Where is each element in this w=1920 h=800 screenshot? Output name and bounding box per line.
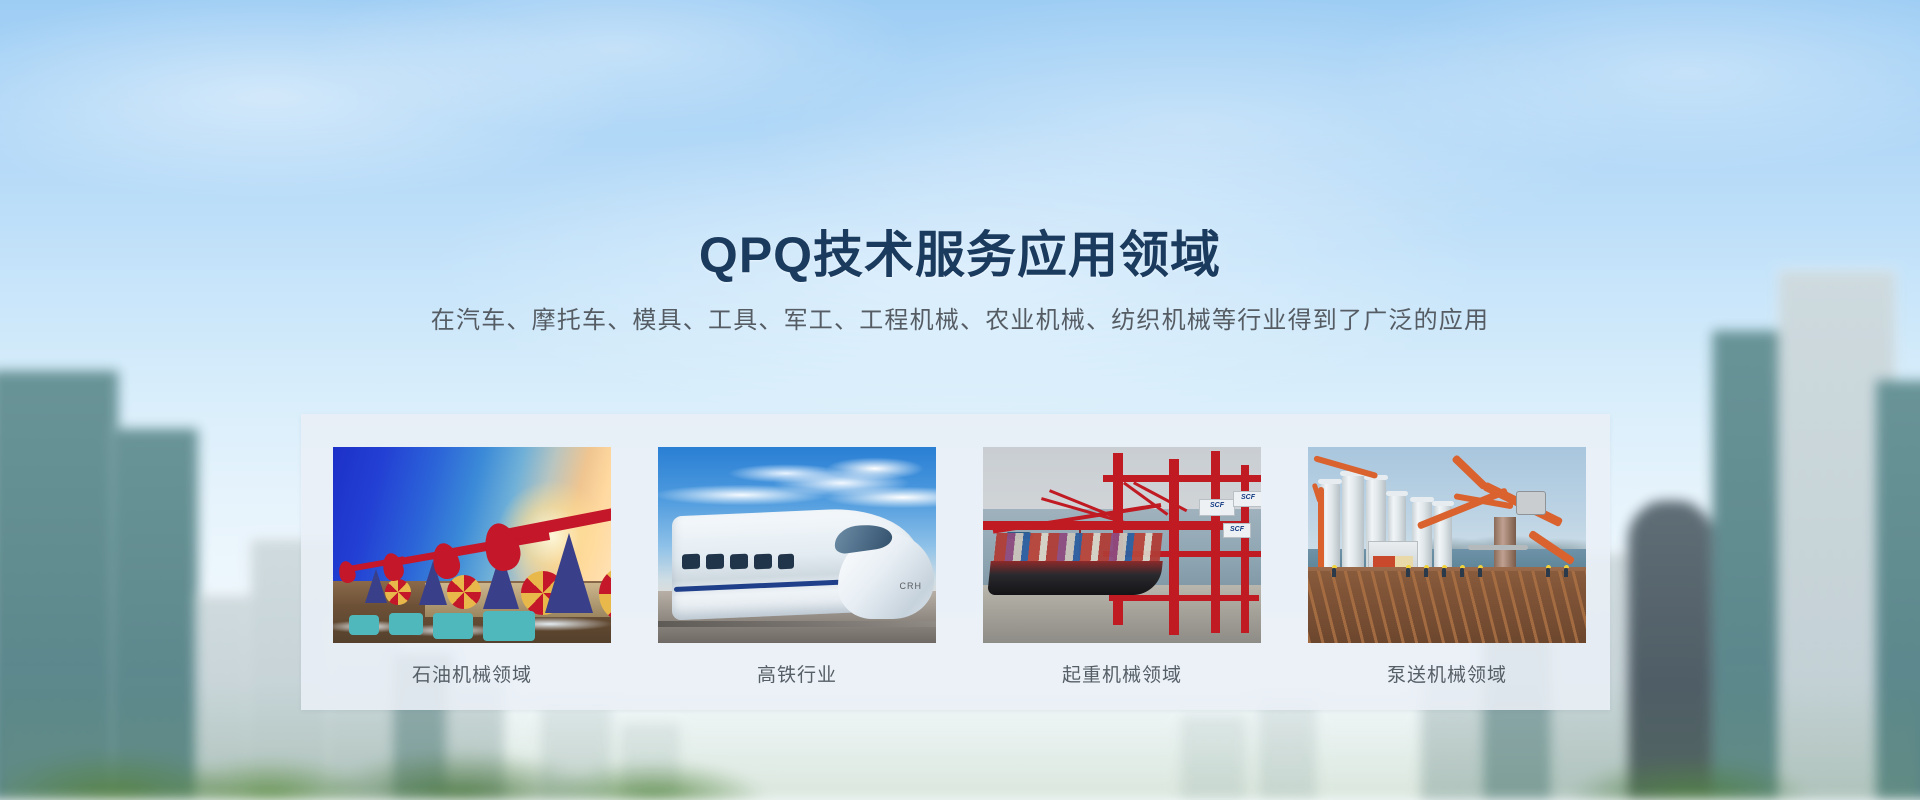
train-badge: CRH [900,581,923,591]
wellhead-valve-1 [349,615,379,635]
hero-headings: QPQ技术服务应用领域 在汽车、摩托车、模具、工具、军工、工程机械、农业机械、纺… [0,228,1920,336]
scf-logo-box-1: SCF [1199,499,1235,516]
wellhead-valve-4 [483,611,535,641]
pump-boom-left-drop [1318,487,1324,571]
worker [1406,568,1410,577]
crane-tower-2 [1169,459,1179,635]
worker [1546,568,1550,577]
worker [1332,568,1336,577]
pump-cab [1516,491,1546,515]
oil-pumpjacks-photo [333,447,611,643]
application-card-pump[interactable]: 泵送机械领域 [1308,447,1586,688]
application-card-oil[interactable]: 石油机械领域 [333,447,611,688]
container-stack [993,533,1162,563]
application-card-caption: 泵送机械领域 [1308,665,1586,688]
worker [1442,568,1446,577]
application-fields-panel: 石油机械领域 CRH [301,414,1610,710]
pumpjack-tower [545,533,593,613]
worker [1460,568,1464,577]
application-cards-row: 石油机械领域 CRH [333,447,1586,688]
crane-crossbeam-low [1109,595,1259,601]
page-title: QPQ技术服务应用领域 [0,228,1920,283]
worker [1564,568,1568,577]
pumpjack-head [337,559,358,584]
application-card-rail[interactable]: CRH 高铁行业 [658,447,936,688]
train-window [778,554,794,570]
concrete-pump-photo [1308,447,1586,643]
pumpjack-front [493,515,611,613]
worker [1424,568,1428,577]
train-window [754,554,772,570]
application-card-caption: 起重机械领域 [983,665,1261,688]
rebar-grid [1308,571,1586,643]
worker [1478,568,1482,577]
train-window [682,554,700,570]
application-card-crane[interactable]: SCF SCF SCF 起重机械领域 [983,447,1261,688]
wellhead-valve-2 [389,613,423,635]
wellhead-valve-3 [433,613,473,639]
train-window [730,554,748,570]
application-card-caption: 高铁行业 [658,665,936,688]
cement-silo-2 [1342,475,1364,567]
application-card-caption: 石油机械领域 [333,665,611,688]
high-speed-train-photo: CRH [658,447,936,643]
port-gantry-cranes-photo: SCF SCF SCF [983,447,1261,643]
container-ship-hull [987,561,1163,595]
pump-platform [1468,545,1528,550]
page-subtitle: 在汽车、摩托车、模具、工具、军工、工程机械、农业机械、纺织机械等行业得到了广泛的… [0,305,1920,336]
train-window [706,554,724,570]
rail-line [658,621,936,627]
scf-logo-box-3: SCF [1223,523,1251,538]
hero-banner: QPQ技术服务应用领域 在汽车、摩托车、模具、工具、军工、工程机械、农业机械、纺… [0,0,1920,800]
crane-crossbeam-upper [1103,475,1261,482]
scf-logo-box-2: SCF [1233,491,1261,507]
